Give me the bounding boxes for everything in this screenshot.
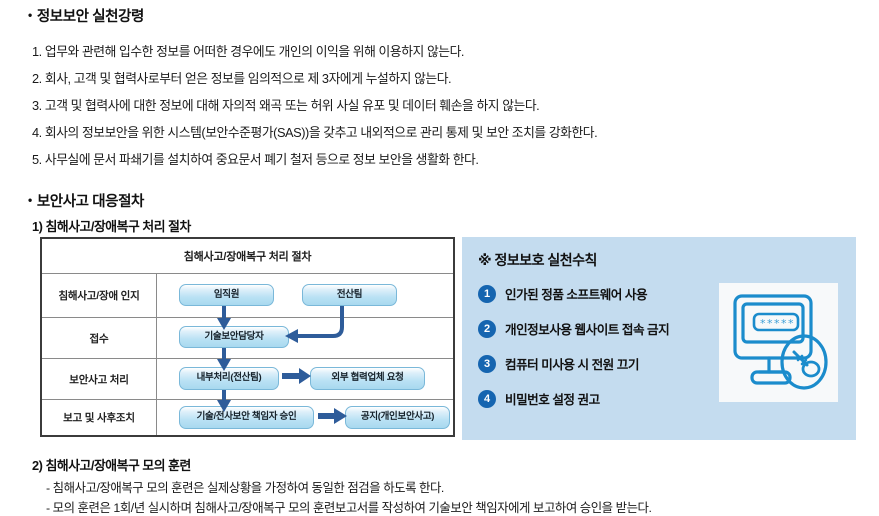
drill-line-1: - 침해사고/장애복구 모의 훈련은 실제상황을 가정하여 동일한 점검을 하도… (46, 478, 444, 496)
tip-number-badge: 4 (478, 390, 496, 408)
guideline-rule-5: 5. 사무실에 문서 파쇄기를 설치하여 중요문서 폐기 철저 등으로 정보 보… (32, 149, 478, 168)
flowchart-row-body: 기술보안담당자 (157, 318, 453, 358)
node-security-officer[interactable]: 기술보안담당자 (179, 326, 289, 348)
flowchart-title: 침해사고/장애복구 처리 절차 (42, 239, 453, 273)
guideline-rule-2: 2. 회사, 고객 및 협력사로부터 얻은 정보를 임의적으로 제 3자에게 누… (32, 68, 451, 87)
drill-line-2: - 모의 훈련은 1회/년 실시하며 침해사고/장애복구 모의 훈련보고서를 작… (46, 498, 651, 516)
flowchart-row-body: 기술/전사보안 책임자 승인 공지(개인보안사고) (157, 400, 453, 435)
guideline-heading: •정보보안 실천강령 (28, 5, 144, 26)
flowchart-title-row: 침해사고/장애복구 처리 절차 (42, 239, 453, 273)
guideline-rule-1: 1. 업무와 관련해 입수한 정보를 어떠한 경우에도 개인의 이익을 위해 이… (32, 41, 464, 60)
tip-label: 인가된 정품 소프트웨어 사용 (505, 284, 647, 303)
tip-number-badge: 2 (478, 320, 496, 338)
tip-label: 비밀번호 설정 권고 (505, 389, 600, 408)
computer-security-illustration: ***** (719, 283, 838, 402)
node-internal-handling[interactable]: 내부처리(전산팀) (179, 367, 279, 390)
tip-label: 개인정보사용 웹사이트 접속 금지 (505, 319, 669, 338)
bullet-icon: • (28, 193, 32, 207)
flowchart-row-label: 접수 (42, 318, 157, 358)
monitor-password-key-icon: ***** (719, 283, 838, 402)
flowchart-row-handling: 보안사고 처리 내부처리(전산팀) 외부 협력업체 요청 (42, 358, 453, 399)
tip-item-1: 1 인가된 정품 소프트웨어 사용 (478, 284, 647, 303)
bullet-icon: • (28, 8, 32, 22)
node-approval[interactable]: 기술/전사보안 책임자 승인 (179, 406, 314, 429)
flowchart-row-recognition: 침해사고/장애 인지 임직원 전산팀 (42, 273, 453, 317)
node-it-team[interactable]: 전산팀 (302, 284, 397, 306)
tip-number-badge: 1 (478, 285, 496, 303)
password-dots-icon: ***** (760, 317, 795, 330)
guideline-rule-4: 4. 회사의 정보보안을 위한 시스템(보안수준평가(SAS))을 갖추고 내외… (32, 122, 597, 141)
node-external-request[interactable]: 외부 협력업체 요청 (310, 367, 425, 390)
flowchart-row-label: 보고 및 사후조치 (42, 400, 157, 435)
node-notice[interactable]: 공지(개인보안사고) (345, 406, 450, 429)
flowchart-row-report: 보고 및 사후조치 기술/전사보안 책임자 승인 공지(개인보안사고) (42, 399, 453, 435)
svg-text:*****: ***** (760, 317, 795, 330)
security-tips-panel: ※ 정보보호 실천수칙 1 인가된 정품 소프트웨어 사용 2 개인정보사용 웹… (462, 237, 856, 440)
tip-label: 컴퓨터 미사용 시 전원 끄기 (505, 354, 639, 373)
flowchart-row-label: 침해사고/장애 인지 (42, 274, 157, 317)
guideline-rule-3: 3. 고객 및 협력사에 대한 정보에 대해 자의적 왜곡 또는 허위 사실 유… (32, 95, 539, 114)
flowchart-row-body: 임직원 전산팀 (157, 274, 453, 317)
tip-number-badge: 3 (478, 355, 496, 373)
incident-heading: •보안사고 대응절차 (28, 190, 144, 211)
tips-panel-title: ※ 정보보호 실천수칙 (478, 250, 597, 270)
flowchart-row-label: 보안사고 처리 (42, 359, 157, 399)
node-employee[interactable]: 임직원 (179, 284, 274, 306)
tip-item-4: 4 비밀번호 설정 권고 (478, 389, 600, 408)
flowchart-row-body: 내부처리(전산팀) 외부 협력업체 요청 (157, 359, 453, 399)
incident-sub-heading-2: 2) 침해사고/장애복구 모의 훈련 (32, 455, 191, 474)
incident-flowchart: 침해사고/장애복구 처리 절차 침해사고/장애 인지 임직원 전산팀 접수 기술… (40, 237, 455, 437)
tip-item-2: 2 개인정보사용 웹사이트 접속 금지 (478, 319, 669, 338)
incident-sub-heading-1: 1) 침해사고/장애복구 처리 절차 (32, 216, 191, 235)
document-page: •정보보안 실천강령 1. 업무와 관련해 입수한 정보를 어떠한 경우에도 개… (0, 0, 879, 516)
flowchart-row-reception: 접수 기술보안담당자 (42, 317, 453, 358)
tip-item-3: 3 컴퓨터 미사용 시 전원 끄기 (478, 354, 639, 373)
